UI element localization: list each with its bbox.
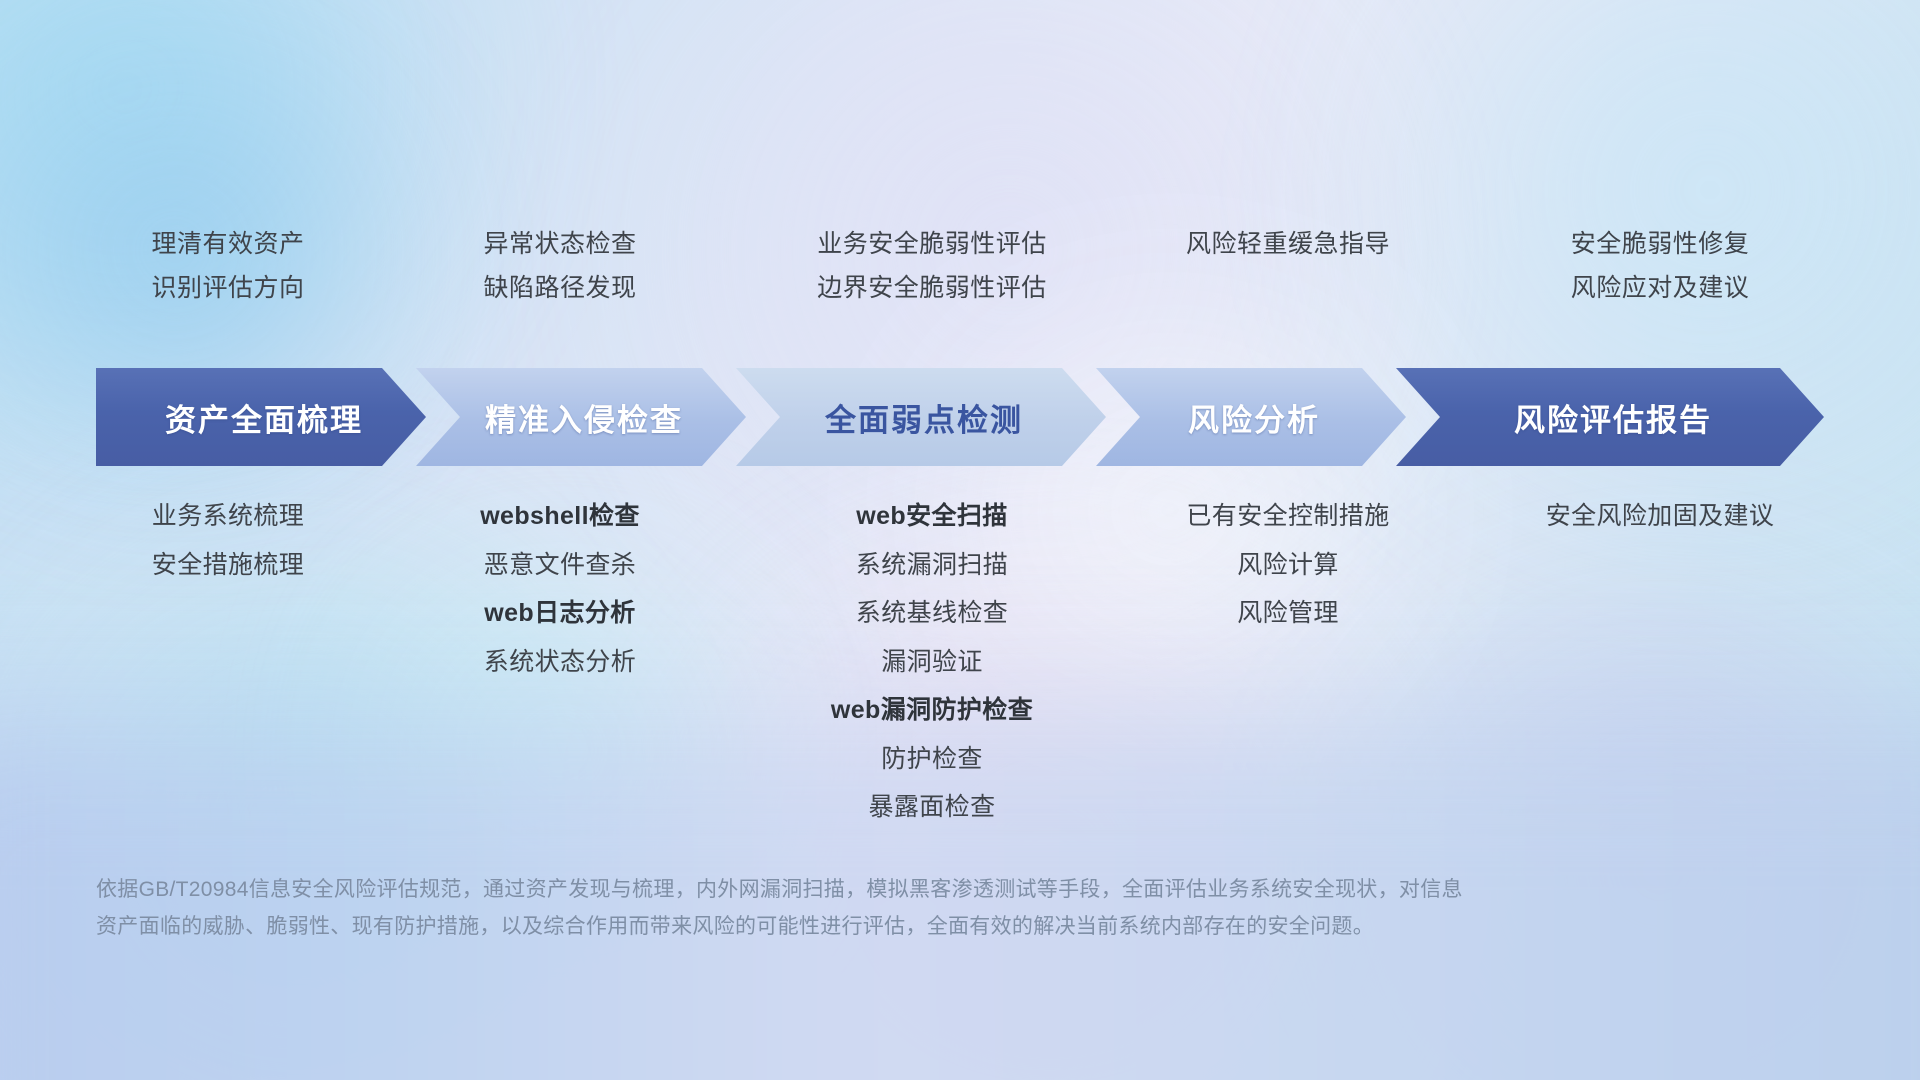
bottom-item-2-3: web日志分析 (484, 597, 635, 630)
top-caption-5-1: 安全脆弱性修复 (1571, 228, 1750, 262)
bottom-item-3-5: web漏洞防护检查 (831, 694, 1033, 727)
chevron-stage-3[interactable]: 全面弱点检测 (736, 368, 1106, 466)
bottom-item-3-6: 防护检查 (881, 743, 983, 776)
chevron-stage-band: 资产全面梳理精准入侵检查全面弱点检测风险分析风险评估报告 (0, 368, 1920, 466)
footer-line-2: 资产面临的威胁、脆弱性、现有防护措施，以及综合作用而带来风险的可能性进行评估，全… (96, 909, 1796, 946)
bottom-item-3-1: web安全扫描 (856, 500, 1007, 533)
bottom-item-4-2: 风险计算 (1237, 549, 1339, 582)
bottom-item-3-2: 系统漏洞扫描 (856, 549, 1008, 582)
chevron-stage-5[interactable]: 风险评估报告 (1396, 368, 1824, 466)
top-captions-row: 理清有效资产识别评估方向异常状态检查缺陷路径发现业务安全脆弱性评估边界安全脆弱性… (0, 228, 1920, 338)
bottom-item-5-1: 安全风险加固及建议 (1546, 500, 1775, 533)
bottom-item-2-1: webshell检查 (480, 500, 640, 533)
chevron-label-stage-3: 全面弱点检测 (825, 395, 1023, 440)
top-caption-2-1: 异常状态检查 (483, 228, 636, 262)
chevron-stage-1[interactable]: 资产全面梳理 (96, 368, 426, 466)
top-caption-1-1: 理清有效资产 (151, 228, 304, 262)
top-caption-5-2: 风险应对及建议 (1571, 272, 1750, 306)
bottom-item-3-3: 系统基线检查 (856, 597, 1008, 630)
chevron-label-stage-1: 资产全面梳理 (165, 395, 363, 440)
bottom-item-2-4: 系统状态分析 (484, 646, 636, 679)
top-caption-1-2: 识别评估方向 (151, 272, 304, 306)
bottom-item-1-1: 业务系统梳理 (152, 500, 304, 533)
bottom-caption-group-5: 安全风险加固及建议 (1400, 500, 1920, 533)
bottom-item-4-1: 已有安全控制措施 (1186, 500, 1389, 533)
chevron-stage-4[interactable]: 风险分析 (1096, 368, 1406, 466)
bottom-item-3-4: 漏洞验证 (881, 646, 983, 679)
top-caption-3-2: 边界安全脆弱性评估 (817, 272, 1047, 306)
bottom-item-3-7: 暴露面检查 (868, 791, 995, 824)
top-caption-4-1: 风险轻重缓急指导 (1186, 228, 1390, 262)
chevron-stage-2[interactable]: 精准入侵检查 (416, 368, 746, 466)
bottom-item-2-2: 恶意文件查杀 (484, 549, 636, 582)
footer-description: 依据GB/T20984信息安全风险评估规范，通过资产发现与梳理，内外网漏洞扫描，… (96, 872, 1796, 946)
chevron-label-stage-4: 风险分析 (1188, 395, 1320, 440)
footer-line-1: 依据GB/T20984信息安全风险评估规范，通过资产发现与梳理，内外网漏洞扫描，… (96, 872, 1796, 909)
top-caption-2-2: 缺陷路径发现 (483, 272, 636, 306)
process-diagram: 理清有效资产识别评估方向异常状态检查缺陷路径发现业务安全脆弱性评估边界安全脆弱性… (0, 0, 1920, 1080)
top-caption-group-5: 安全脆弱性修复风险应对及建议 (1400, 228, 1920, 306)
top-caption-3-1: 业务安全脆弱性评估 (817, 228, 1047, 262)
bottom-item-4-3: 风险管理 (1237, 597, 1339, 630)
chevron-label-stage-2: 精准入侵检查 (485, 395, 683, 440)
chevron-label-stage-5: 风险评估报告 (1514, 395, 1712, 440)
bottom-item-1-2: 安全措施梳理 (152, 549, 304, 582)
